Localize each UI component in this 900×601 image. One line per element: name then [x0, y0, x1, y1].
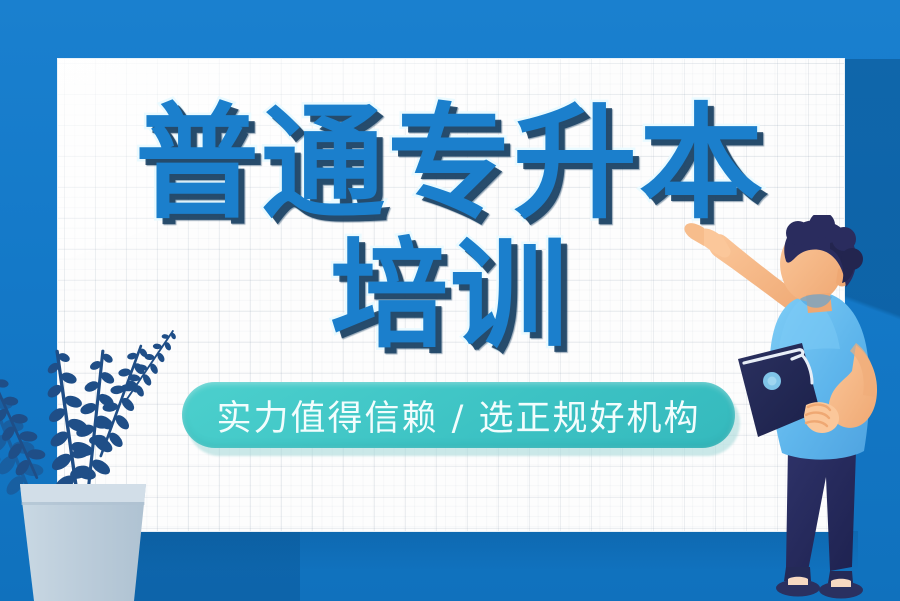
man-pointing-illustration	[680, 215, 900, 601]
poster-root: 普通专升本 培训 实力值得信赖 / 选正规好机构	[0, 0, 900, 601]
subtitle-pill-body: 实力值得信赖 / 选正规好机构	[182, 382, 735, 448]
potted-plant	[0, 300, 190, 601]
subtitle-text: 实力值得信赖 / 选正规好机构	[216, 390, 700, 441]
subtitle-pill: 实力值得信赖 / 选正规好机构	[182, 382, 735, 448]
